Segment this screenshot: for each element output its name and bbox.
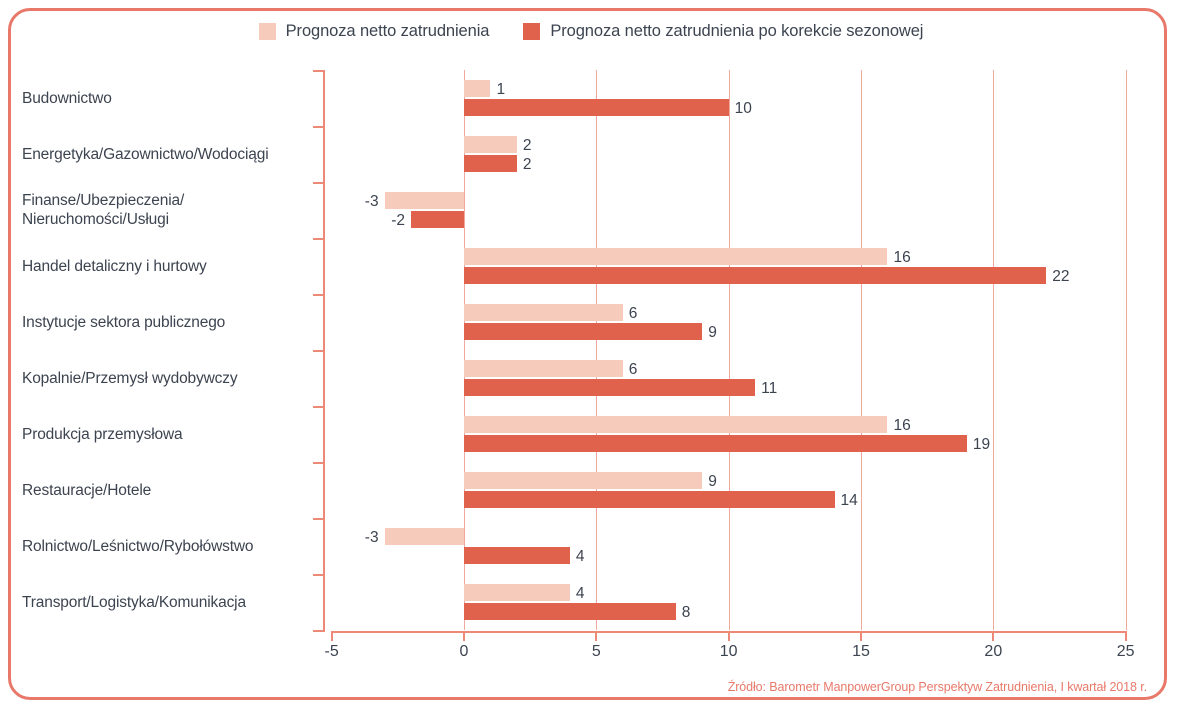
legend-swatch-series-2: [523, 23, 540, 40]
legend-item-prognoza-netto-korekta: Prognoza netto zatrudnienia po korekcie …: [523, 22, 923, 41]
source-note: Źródło: Barometr ManpowerGroup Perspekty…: [728, 680, 1147, 694]
chart-legend: Prognoza netto zatrudnienia Prognoza net…: [0, 22, 1182, 41]
legend-label-series-1: Prognoza netto zatrudnienia: [286, 22, 490, 41]
legend-swatch-series-1: [259, 23, 276, 40]
chart-frame: [8, 8, 1167, 700]
legend-item-prognoza-netto: Prognoza netto zatrudnienia: [259, 22, 490, 41]
legend-label-series-2: Prognoza netto zatrudnienia po korekcie …: [550, 22, 923, 41]
